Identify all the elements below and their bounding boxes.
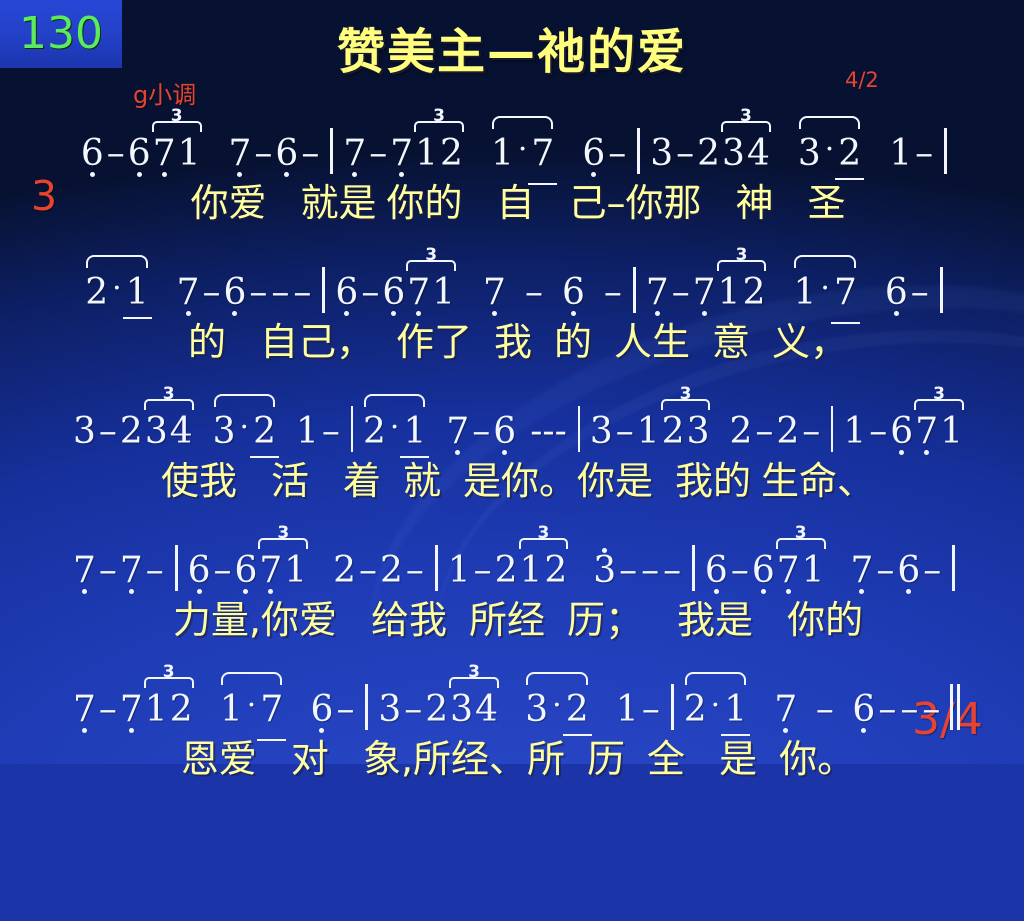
note: 1 [295, 412, 320, 452]
lyric-word: 给我 [371, 597, 447, 643]
note: 7 [773, 690, 798, 730]
note: 7 [119, 551, 144, 591]
lyric-word: 使我 [161, 458, 237, 504]
barline [365, 684, 368, 730]
note: 1 [888, 134, 913, 174]
sustain-dash: – [614, 412, 636, 452]
note: 6 [187, 551, 212, 591]
sustain-dash: – [661, 551, 683, 591]
notation-row-5: 7 – 7 3 12 1·7 6 – 3 – 2 [0, 664, 1024, 730]
lyrics-row-5: 恩爱 对 象,所经、所 历 全 是 你。 [0, 730, 1024, 788]
triplet-group: 3 34 [721, 134, 771, 174]
triplet-number: 3 [734, 247, 750, 264]
barline [330, 128, 333, 174]
note: 6 [381, 273, 406, 313]
triplet-group: 3 12 [519, 551, 569, 591]
note: 1 [792, 273, 817, 313]
note: 2 [169, 690, 194, 730]
note: 7 [119, 690, 144, 730]
sustain-dash: – [97, 551, 119, 591]
note: 3 [686, 412, 711, 452]
lyric-word: 所经 [469, 597, 545, 643]
note: 6 [884, 273, 909, 313]
note: 4 [746, 134, 771, 174]
lyric-word: 作了 [396, 319, 472, 365]
triplet-number: 3 [161, 386, 177, 403]
triplet-bracket: 3 [776, 529, 826, 549]
triplet-bracket: 3 [717, 251, 767, 271]
sustain-dash: – [320, 412, 342, 452]
lyrics-row-4: 力量,你爱 给我 所经 历； 我是 你的 [0, 591, 1024, 649]
lyric-word: 是你。你是 [463, 458, 653, 504]
note: 3 [144, 412, 169, 452]
sustain-dash: – [898, 690, 920, 730]
score-system-4: 7 – 7 – 6 – 6 3 71 2 – 2 – 1 – 2 [0, 525, 1024, 664]
sustain-dash: – [357, 551, 379, 591]
triplet-group: 3 34 [144, 412, 194, 452]
note: 7 [692, 273, 717, 313]
note: 7 [776, 551, 801, 591]
note: 6 [274, 134, 299, 174]
note: 1 [801, 551, 826, 591]
sustain-dash: – [909, 273, 931, 313]
note: 1 [414, 134, 439, 174]
lyric-word: 力量,你爱 [173, 597, 337, 643]
barline [322, 267, 325, 313]
note: 1 [219, 690, 244, 730]
note: 7 [152, 134, 177, 174]
note: 2 [543, 551, 568, 591]
note: 3 [592, 551, 617, 591]
note: 3 [721, 134, 746, 174]
slur-arc [214, 394, 275, 407]
lyric-word: 己–你那 [569, 180, 702, 226]
note: 2 [362, 412, 387, 452]
sustain-dash: – [247, 273, 269, 313]
sustain-dash: – [201, 273, 223, 313]
note: 7 [176, 273, 201, 313]
note: 6 [127, 134, 152, 174]
barline [944, 128, 947, 174]
triplet-bracket: 3 [661, 390, 711, 410]
score-system-2: 2·1 7 – 6 – – – 6 – 6 3 71 7 – [0, 247, 1024, 386]
sustain-dash: – [867, 412, 889, 452]
note: 7 [406, 273, 431, 313]
triplet-bracket: 3 [406, 251, 456, 271]
score-system-1: 6 – 6 3 71 7 – 6 – 7 – 7 3 [0, 108, 1024, 247]
note: 1 [431, 273, 456, 313]
note: 6 [851, 690, 876, 730]
note: 2 [565, 690, 590, 730]
sustain-dash: – [640, 690, 662, 730]
note: 2 [775, 412, 800, 452]
lyric-word: 神 [736, 180, 774, 226]
slur-arc [526, 672, 587, 685]
sustain-dash: – [291, 273, 313, 313]
note: 7 [849, 551, 874, 591]
score-system-3: 3 – 2 3 34 3·2 1 – 2·1 [0, 386, 1024, 525]
sustain-dash: – [211, 551, 233, 591]
sustain-dash: – [523, 273, 545, 313]
note: 6 [492, 412, 517, 452]
triplet-bracket: 3 [449, 668, 499, 688]
dotted-group: 1·7 [490, 130, 555, 174]
note: 1 [842, 412, 867, 452]
sustain-dash: – [814, 690, 836, 730]
lyric-word: 历； [567, 597, 643, 643]
sustain-dash: – [729, 551, 751, 591]
lyric-word: 你爱 [190, 180, 266, 226]
triplet-group: 3 12 [144, 690, 194, 730]
sustain-dash: – [639, 551, 661, 591]
note: 6 [561, 273, 586, 313]
note: 1 [636, 412, 661, 452]
sustain-dash: – [602, 273, 624, 313]
triplet-group: 3 71 [406, 273, 456, 313]
lyric-word: 你的 [386, 180, 462, 226]
barline [692, 545, 695, 591]
note: 2 [683, 690, 708, 730]
triplet-number: 3 [431, 108, 447, 125]
triplet-bracket: 3 [258, 529, 308, 549]
sustain-dash: – [472, 551, 494, 591]
triplet-group: 3 71 [258, 551, 308, 591]
note: 2 [379, 551, 404, 591]
note: 2 [728, 412, 753, 452]
notation-row-3: 3 – 2 3 34 3·2 1 – 2·1 [0, 386, 1024, 452]
note: 6 [310, 690, 335, 730]
lyric-word: 我是 [677, 597, 753, 643]
score-system-5: 7 – 7 3 12 1·7 6 – 3 – 2 [0, 664, 1024, 803]
slur-arc [685, 672, 746, 685]
sustain-dash: – [404, 551, 426, 591]
note: 1 [177, 134, 202, 174]
lyric-word: 义， [772, 319, 848, 365]
barline [351, 406, 353, 452]
note: 2 [119, 412, 144, 452]
barline [175, 545, 178, 591]
barline [633, 267, 636, 313]
triplet-number: 3 [931, 386, 947, 403]
triplet-group: 3 71 [152, 134, 202, 174]
triplet-group: 3 71 [914, 412, 964, 452]
note: 2 [661, 412, 686, 452]
note: 6 [233, 551, 258, 591]
barline [831, 406, 833, 452]
triplet-bracket: 3 [144, 390, 194, 410]
lyric-word: 就 [403, 458, 441, 504]
lyric-word: 着 [343, 458, 381, 504]
note: 3 [797, 134, 822, 174]
key-signature: g小调 [133, 75, 196, 110]
lyric-word: 的 [188, 319, 226, 365]
lyric-word: 人生 [614, 319, 690, 365]
note: 2 [424, 690, 449, 730]
sustain-dash: – [144, 551, 166, 591]
lyric-word: 象,所经、所 [363, 736, 565, 782]
slur-arc [799, 116, 860, 129]
sustain-dash: – [876, 690, 898, 730]
lyrics-row-1: 你爱 就是 你的 自 己–你那 神 圣 [0, 174, 1024, 232]
note: 6 [334, 273, 359, 313]
note: 3 [212, 412, 237, 452]
lyrics-row-3: 使我 活 着 就 是你。你是 我的 生命、 [0, 452, 1024, 510]
note: 7 [482, 273, 507, 313]
note: 6 [581, 134, 606, 174]
note: 1 [283, 551, 308, 591]
sustain-dash: – [670, 273, 692, 313]
lyrics-row-2: 的 自己， 作了 我 的 人生 意 义， [0, 313, 1024, 371]
sustain-dash: – [753, 412, 775, 452]
triplet-number: 3 [738, 108, 754, 125]
slur-arc [86, 255, 147, 268]
lyric-word: 全 [647, 736, 685, 782]
triplet-bracket: 3 [519, 529, 569, 549]
triplet-number: 3 [535, 525, 551, 542]
lyric-word: 你的 [787, 597, 863, 643]
note: 3 [72, 412, 97, 452]
triplet-bracket: 3 [152, 112, 202, 132]
slur-arc [364, 394, 425, 407]
note: 6 [704, 551, 729, 591]
lyric-word: 意 [712, 319, 750, 365]
triplet-bracket: 3 [414, 112, 464, 132]
barline [952, 545, 955, 591]
note: 1 [125, 273, 150, 313]
lyric-word: 我 [494, 319, 532, 365]
final-double-barline [950, 684, 960, 730]
lyric-word: 就是 [300, 180, 376, 226]
sustain-dash: – [402, 690, 424, 730]
slur-arc [794, 255, 855, 268]
lyric-word: 圣 [808, 180, 846, 226]
note: 7 [389, 134, 414, 174]
augmentation-dot: · [244, 686, 260, 726]
sustain-dash: – [252, 134, 274, 174]
lyric-word: 生命、 [761, 458, 875, 504]
note: 1 [615, 690, 640, 730]
lyric-word: 你。 [779, 736, 855, 782]
augmentation-dot: · [822, 130, 838, 170]
triplet-group: 3 71 [776, 551, 826, 591]
augmentation-dot: · [708, 686, 724, 726]
dotted-group: 1·7 [219, 686, 284, 730]
triplet-bracket: 3 [721, 112, 771, 132]
sustain-dash: – [800, 412, 822, 452]
sustain-dash: – [97, 690, 119, 730]
lyric-word: 是 [719, 736, 757, 782]
barline [940, 267, 943, 313]
triplet-number: 3 [423, 247, 439, 264]
triplet-group: 3 12 [717, 273, 767, 313]
note: 1 [144, 690, 169, 730]
slur-arc [221, 672, 282, 685]
triplet-number: 3 [161, 664, 177, 681]
triplet-number: 3 [275, 525, 291, 542]
lyric-word: 对 [291, 736, 329, 782]
note: 7 [72, 690, 97, 730]
lyric-word: 恩爱 [181, 736, 257, 782]
sustain-dash: – [674, 134, 696, 174]
note: 1 [447, 551, 472, 591]
note: 3 [524, 690, 549, 730]
triplet-group: 3 12 [414, 134, 464, 174]
note: 2 [696, 134, 721, 174]
triplet-group: 3 34 [449, 690, 499, 730]
note: 7 [833, 273, 858, 313]
dotted-group: 2·1 [362, 408, 427, 452]
barline [435, 545, 438, 591]
note: 2 [742, 273, 767, 313]
dotted-group: 1·7 [792, 269, 857, 313]
lyric-word: 自己， [260, 319, 374, 365]
augmentation-dot: · [515, 130, 531, 170]
sustain-dash: – [334, 690, 356, 730]
triplet-number: 3 [169, 108, 185, 125]
triplet-bracket: 3 [144, 668, 194, 688]
triplet-group: 3 23 [661, 412, 711, 452]
barline [578, 406, 580, 452]
notation-row-4: 7 – 7 – 6 – 6 3 71 2 – 2 – 1 – 2 [0, 525, 1024, 591]
dotted-group: 3·2 [212, 408, 277, 452]
notation-row-2: 2·1 7 – 6 – – – 6 – 6 3 71 7 – [0, 247, 1024, 313]
sustain-dash: – [105, 134, 127, 174]
note: 7 [342, 134, 367, 174]
triplet-number: 3 [793, 525, 809, 542]
note: 1 [717, 273, 742, 313]
note: 7 [258, 551, 283, 591]
slur-arc [492, 116, 553, 129]
note: 6 [80, 134, 105, 174]
musical-score: 6 – 6 3 71 7 – 6 – 7 – 7 3 [0, 108, 1024, 803]
note: 1 [402, 412, 427, 452]
note: 7 [445, 412, 470, 452]
note: 6 [889, 412, 914, 452]
note: 2 [332, 551, 357, 591]
sustain-dash: – [617, 551, 639, 591]
barline [671, 684, 674, 730]
dotted-group: 2·1 [683, 686, 748, 730]
note: 2 [837, 134, 862, 174]
augmentation-dot: · [109, 269, 125, 309]
note: 7 [530, 134, 555, 174]
note: 1 [519, 551, 544, 591]
sustain-dash: – [359, 273, 381, 313]
note: 4 [169, 412, 194, 452]
sustain-dash: – [921, 551, 943, 591]
augmentation-dot: · [387, 408, 403, 448]
note: 4 [474, 690, 499, 730]
note: 6 [896, 551, 921, 591]
note: 6 [751, 551, 776, 591]
note: 2 [252, 412, 277, 452]
note: 7 [228, 134, 253, 174]
dotted-group: 3·2 [524, 686, 589, 730]
triplet-number: 3 [678, 386, 694, 403]
sustain-dash: – [299, 134, 321, 174]
sustain-dash: --- [528, 412, 569, 452]
note: 3 [649, 134, 674, 174]
note: 7 [259, 690, 284, 730]
barline [637, 128, 640, 174]
triplet-number: 3 [466, 664, 482, 681]
note: 1 [723, 690, 748, 730]
note: 1 [490, 134, 515, 174]
lyric-word: 自 [496, 180, 534, 226]
note: 3 [377, 690, 402, 730]
triplet-bracket: 3 [914, 390, 964, 410]
dotted-group: 2·1 [84, 269, 149, 313]
sustain-dash: – [97, 412, 119, 452]
sustain-dash: – [913, 134, 935, 174]
sustain-dash: – [470, 412, 492, 452]
sustain-dash: – [920, 690, 942, 730]
note: 6 [223, 273, 248, 313]
lyric-word: 历 [587, 736, 625, 782]
note: 2 [439, 134, 464, 174]
dotted-group: 3·2 [797, 130, 862, 174]
augmentation-dot: · [817, 269, 833, 309]
note: 7 [914, 412, 939, 452]
note: 3 [589, 412, 614, 452]
note: 7 [645, 273, 670, 313]
time-signature: 4/2 [845, 68, 879, 92]
lyric-word: 我的 [675, 458, 751, 504]
note: 7 [72, 551, 97, 591]
augmentation-dot: · [237, 408, 253, 448]
note: 3 [449, 690, 474, 730]
lyric-word: 活 [271, 458, 309, 504]
note: 1 [939, 412, 964, 452]
sustain-dash: – [269, 273, 291, 313]
note: 2 [494, 551, 519, 591]
note: 2 [84, 273, 109, 313]
sustain-dash: – [606, 134, 628, 174]
notation-row-1: 6 – 6 3 71 7 – 6 – 7 – 7 3 [0, 108, 1024, 174]
augmentation-dot: · [549, 686, 565, 726]
sustain-dash: – [367, 134, 389, 174]
sustain-dash: – [874, 551, 896, 591]
lyric-word: 的 [554, 319, 592, 365]
